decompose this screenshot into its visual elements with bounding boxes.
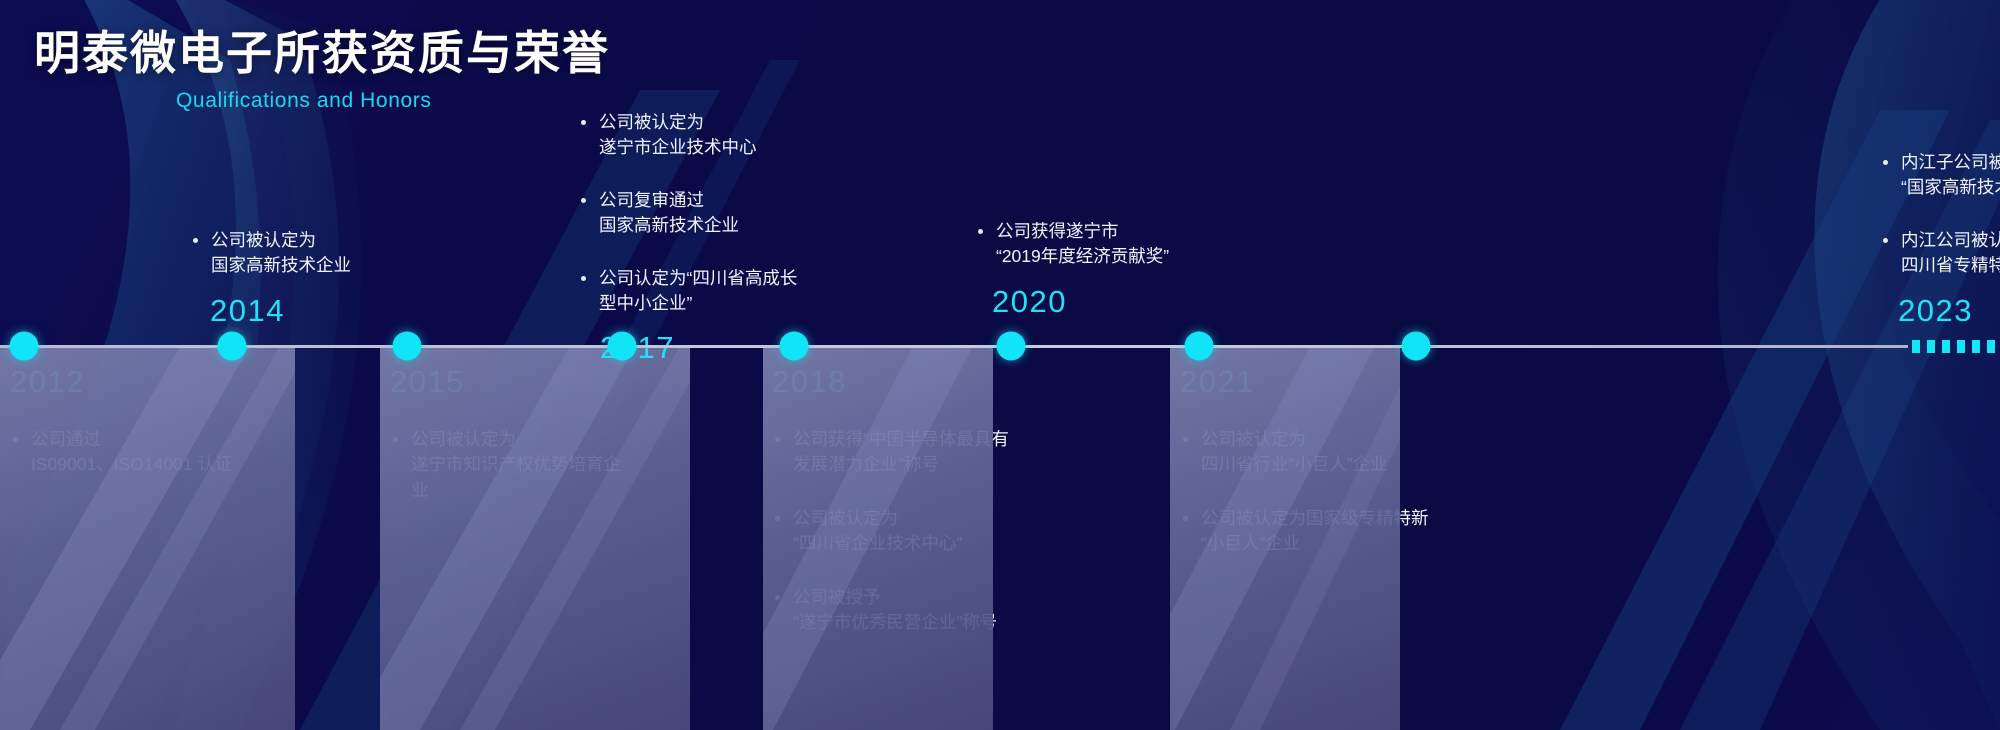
milestone-2020-bullets: 公司获得遂宁市 “2019年度经济贡献奖”: [975, 219, 1169, 270]
list-item: 内江公司被认定为 四川省专精特新企业: [1880, 228, 2000, 279]
milestone-2014-year: 2014: [210, 295, 351, 326]
page-title: 明泰微电子所获资质与荣誉: [34, 28, 610, 79]
milestone-2023-bullets: 内江子公司被认定为 “国家高新技术企业” 内江公司被认定为 四川省专精特新企业: [1880, 150, 2000, 279]
milestone-2020-year: 2020: [992, 286, 1169, 317]
list-item: 公司被认定为 遂宁市企业技术中心: [578, 110, 797, 161]
timeline-dot-2021[interactable]: [1185, 332, 1214, 361]
page-subtitle: Qualifications and Honors: [176, 89, 610, 113]
panel-2021: [1170, 346, 1400, 730]
timeline-dot-2020[interactable]: [997, 332, 1026, 361]
milestone-2014-bullets: 公司被认定为 国家高新技术企业: [190, 228, 351, 279]
header: 明泰微电子所获资质与荣誉 Qualifications and Honors: [34, 28, 610, 113]
panel-2018: [763, 346, 993, 730]
milestone-2020: 公司获得遂宁市 “2019年度经济贡献奖” 2020: [975, 219, 1169, 317]
milestone-2017: 公司被认定为 遂宁市企业技术中心 公司复审通过 国家高新技术企业 公司认定为“四…: [578, 110, 797, 363]
milestone-2014: 公司被认定为 国家高新技术企业 2014: [190, 228, 351, 326]
list-item: 公司复审通过 国家高新技术企业: [578, 188, 797, 239]
timeline-dot-2012[interactable]: [10, 332, 39, 361]
timeline-dot-2014[interactable]: [218, 332, 247, 361]
list-item: 公司获得遂宁市 “2019年度经济贡献奖”: [975, 219, 1169, 270]
timeline-axis: [0, 345, 1908, 348]
timeline-dot-2017[interactable]: [608, 332, 637, 361]
milestone-2023-year: 2023: [1898, 295, 2000, 326]
list-item: 内江子公司被认定为 “国家高新技术企业”: [1880, 150, 2000, 201]
panel-2012: [0, 346, 295, 730]
timeline-dot-2023[interactable]: [1402, 332, 1431, 361]
milestone-2017-bullets: 公司被认定为 遂宁市企业技术中心 公司复审通过 国家高新技术企业 公司认定为“四…: [578, 110, 797, 316]
slide-canvas: 明泰微电子所获资质与荣誉 Qualifications and Honors: [0, 0, 2000, 730]
panel-2015: [380, 346, 690, 730]
timeline-axis-tail-dashes: [1912, 339, 2000, 353]
milestone-2023: 内江子公司被认定为 “国家高新技术企业” 内江公司被认定为 四川省专精特新企业 …: [1880, 150, 2000, 326]
list-item: 公司被认定为 国家高新技术企业: [190, 228, 351, 279]
list-item: 公司认定为“四川省高成长 型中小企业”: [578, 266, 797, 317]
timeline-dot-2018[interactable]: [780, 332, 809, 361]
timeline-dot-2015[interactable]: [393, 332, 422, 361]
